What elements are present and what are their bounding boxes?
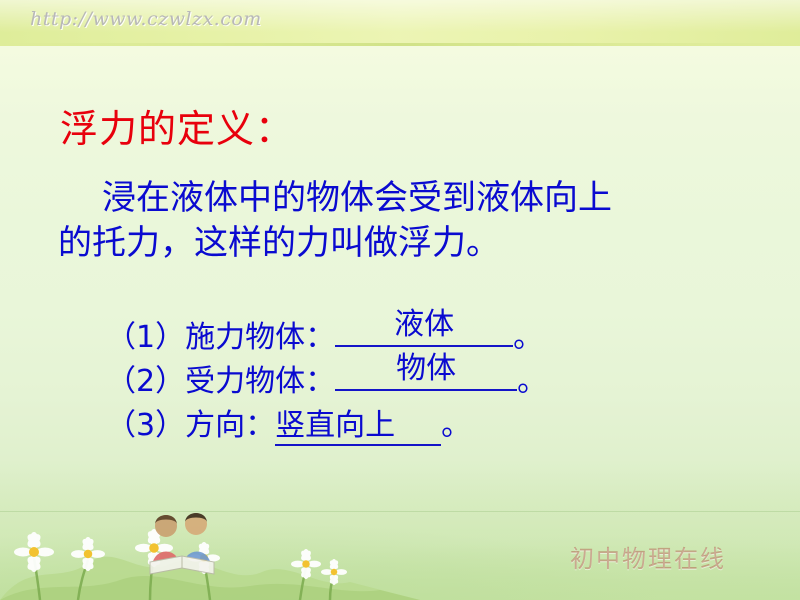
- blank-answer-3: 竖直向上: [275, 400, 395, 444]
- site-url-text: http://www.czwlzx.com: [30, 8, 262, 30]
- list-item-period: 。: [517, 356, 547, 400]
- flower-decoration: [0, 490, 420, 600]
- blank-field-3[interactable]: 竖直向上: [275, 400, 441, 446]
- blank-field-2[interactable]: 物体: [335, 389, 517, 391]
- blank-answer-1: 液体: [394, 299, 454, 343]
- list-item-period: 。: [513, 312, 543, 356]
- definition-line-2: 的托力，这样的力叫做浮力。: [58, 221, 758, 266]
- definition-paragraph: 浸在液体中的物体会受到液体向上 的托力，这样的力叫做浮力。: [58, 176, 758, 266]
- fill-in-blank-list: （1）施力物体：液体。 （2）受力物体：物体。 （3）方向：竖直向上。: [106, 312, 547, 444]
- watermark-text: 初中物理在线: [570, 539, 726, 574]
- definition-line-1: 浸在液体中的物体会受到液体向上: [58, 176, 758, 221]
- list-item: （3）方向：竖直向上。: [106, 400, 547, 444]
- slide-canvas: http://www.czwlzx.com 浮力的定义： 浸在液体中的物体会受到…: [0, 0, 800, 600]
- page-title: 浮力的定义：: [60, 98, 294, 153]
- list-item-period: 。: [441, 400, 471, 444]
- list-item-label: （1）施力物体：: [106, 312, 335, 356]
- list-item: （1）施力物体：液体。: [106, 312, 547, 356]
- list-item-label: （2）受力物体：: [106, 356, 335, 400]
- blank-answer-2: 物体: [396, 343, 456, 387]
- list-item-label: （3）方向：: [106, 400, 275, 444]
- list-item: （2）受力物体：物体。: [106, 356, 547, 400]
